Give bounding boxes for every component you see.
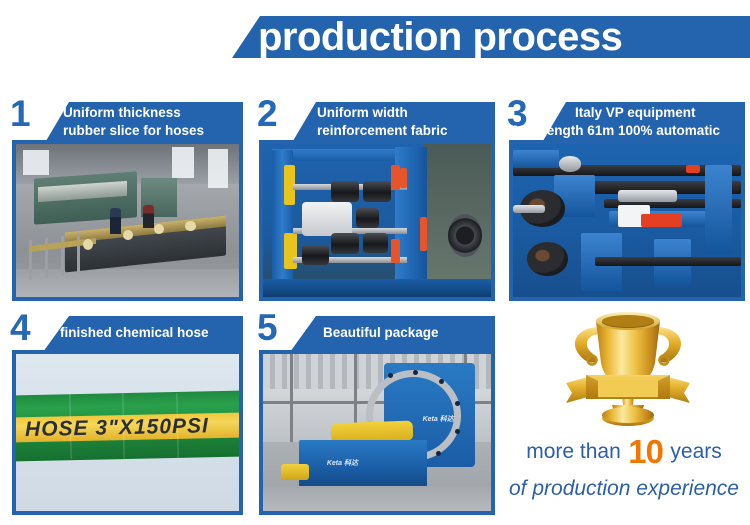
step-number-4: 4 [10,310,31,346]
step-photo-frame-4: HOSE 3"X150PSI [12,350,243,515]
step-photo-2 [263,144,491,297]
experience-block: more than 10 years of production experie… [498,305,750,525]
step-caption-1-line1: Uniform thickness [63,104,181,122]
machine-logo-cabinet: Keta 科达 [327,458,358,468]
hose-label: HOSE 3"X150PSI [25,412,231,443]
step-photo-frame-1 [12,140,243,301]
step-photo-3 [513,144,741,297]
experience-subtitle: of production experience [498,477,750,507]
machine-logo-ring: Keta 科达 [423,414,454,424]
step-caption-2-line2: reinforcement fabric [317,122,448,140]
step-photo-5: Keta 科达 Keta 科达 [263,354,491,511]
step-panel-1: 1 Uniform thickness rubber slice for hos… [8,96,243,301]
step-panel-3: 3 Italy VP equipment Max.length 61m 100%… [505,96,745,301]
step-caption-1-line2: rubber slice for hoses [63,122,204,140]
step-caption-3-line1: Italy VP equipment [575,104,696,122]
step-number-1: 1 [10,96,31,132]
step-panel-4: 4 finished chemical hose HOSE 3"X150PSI [8,310,243,518]
step-caption-5-line1: Beautiful package [323,324,439,342]
step-photo-frame-2 [259,140,495,301]
step-caption-3-line2: Max.length 61m 100% automatic [513,122,720,140]
step-photo-4: HOSE 3"X150PSI [16,354,239,511]
step-photo-frame-3 [509,140,745,301]
trophy-icon [558,305,698,430]
step-caption-2-line1: Uniform width [317,104,408,122]
experience-suffix: years [670,440,721,463]
step-photo-frame-5: Keta 科达 Keta 科达 [259,350,495,515]
experience-prefix: more than [526,440,621,463]
experience-years-line: more than 10 years [498,433,750,469]
step-number-2: 2 [257,96,278,132]
step-photo-1 [16,144,239,297]
step-number-5: 5 [257,310,278,346]
page-title: production process [258,11,750,71]
step-panel-5: 5 Beautiful package Keta 科达 Keta 科达 [255,310,495,518]
step-panel-2: 2 Uniform width reinforcement fabric [255,96,495,301]
step-caption-4-line1: finished chemical hose [60,324,209,342]
experience-number: 10 [628,433,663,470]
